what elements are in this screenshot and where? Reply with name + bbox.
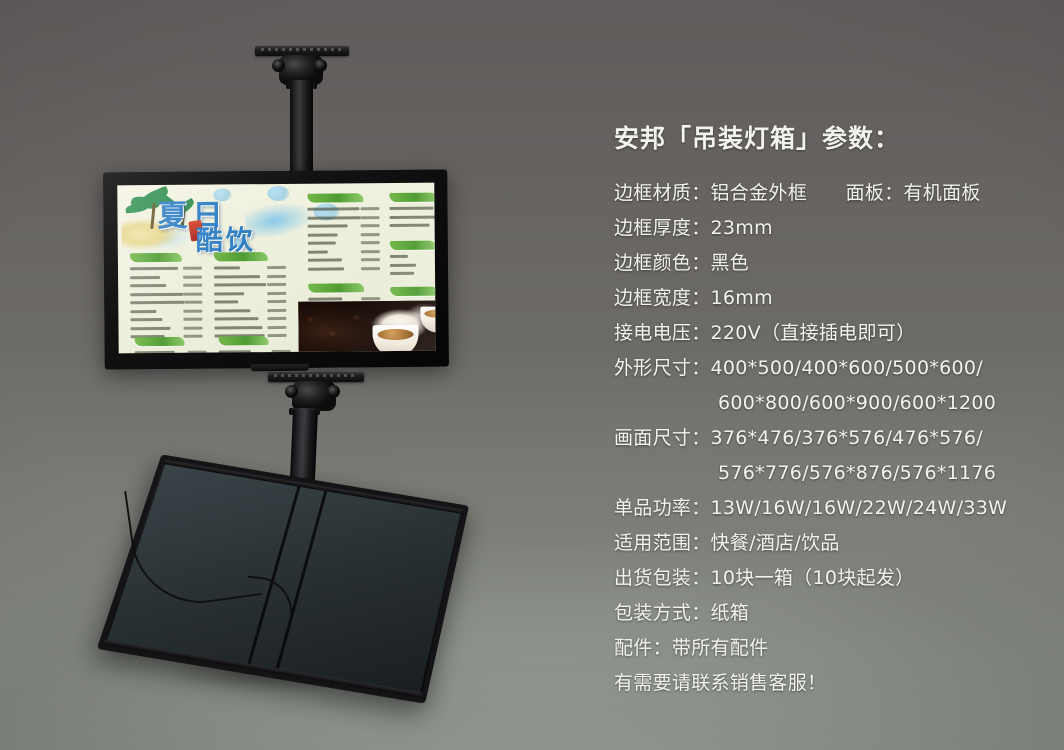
menu-section-hot (219, 336, 291, 354)
spec-line: 600*800/600*900/600*1200 (614, 386, 1050, 421)
swivel-knob-lower-left (285, 385, 298, 398)
spec-line: 576*776/576*876/576*1176 (614, 456, 1050, 491)
spec-line: 出货包装：10块一箱（10块起发） (614, 561, 1050, 596)
coffee-photo (298, 301, 435, 352)
menu-section-coffee (307, 193, 380, 274)
spec-line: 适用范围：快餐/酒店/饮品 (614, 526, 1050, 561)
menu-artwork: 夏日 酷饮 (117, 183, 435, 354)
spec-line: 边框厚度：23mm (614, 211, 1050, 246)
menu-section-special (389, 192, 435, 230)
spec-line: 包装方式：纸箱 (614, 596, 1050, 631)
lightbox-menu-screen: 夏日 酷饮 (117, 183, 435, 354)
spec-line: 边框颜色：黑色 (614, 246, 1050, 281)
swivel-knob-lower-right (327, 385, 340, 398)
spec-line: 边框宽度：16mm (614, 281, 1050, 316)
lightbox-bottom-mount (251, 364, 309, 372)
spec-title: 安邦「吊装灯箱」参数： (614, 124, 1050, 154)
product-photo-canvas: 夏日 酷饮 (0, 0, 1064, 750)
lightbox-front-unit: 夏日 酷饮 (103, 170, 449, 370)
spec-panel: 安邦「吊装灯箱」参数： 边框材质：铝合金外框 面板：有机面板边框厚度：23mm边… (614, 124, 1050, 701)
spec-line: 画面尺寸：376*476/376*576/476*576/ (614, 421, 1050, 456)
droplet-2 (267, 186, 289, 201)
spec-line: 单品功率：13W/16W/16W/22W/24W/33W (614, 491, 1050, 526)
coffee-cup-back (420, 306, 435, 332)
spec-line-list: 边框材质：铝合金外框 面板：有机面板边框厚度：23mm边框颜色：黑色边框宽度：1… (614, 176, 1050, 701)
menu-section-smoothie (135, 337, 207, 354)
spec-line: 有需要请联系销售客服！ (614, 666, 1050, 701)
spec-line: 接电电压：220V（直接插电即可） (614, 316, 1050, 351)
swivel-knob-right (314, 59, 327, 72)
spec-line: 边框材质：铝合金外框 面板：有机面板 (614, 176, 1050, 211)
coffee-cup-main (372, 325, 418, 354)
swivel-knob-left (272, 59, 285, 72)
menu-section-snacks (390, 240, 436, 278)
menu-section-fruit (130, 253, 203, 342)
spec-line: 配件：带所有配件 (614, 631, 1050, 666)
spec-line: 外形尺寸：400*500/400*600/500*600/ (614, 351, 1050, 386)
menu-section-milktea (214, 252, 287, 341)
